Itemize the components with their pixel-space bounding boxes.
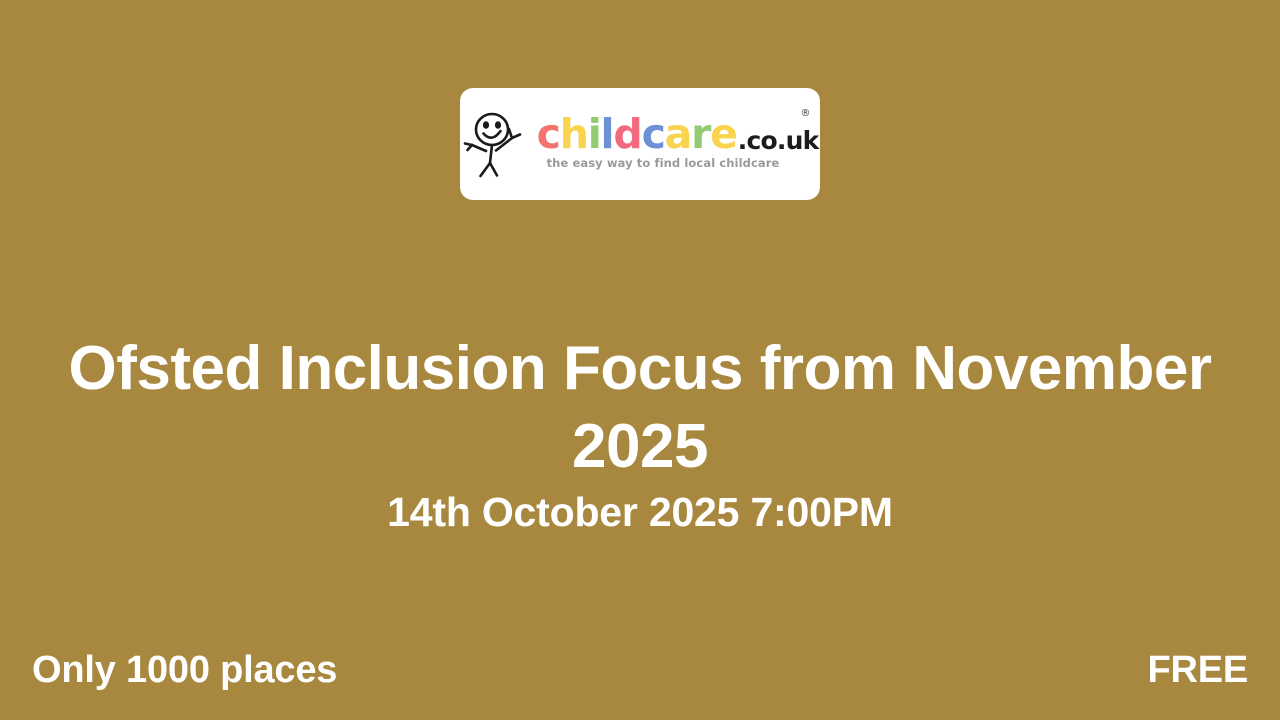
page-title: Ofsted Inclusion Focus from November 202… [40, 330, 1240, 486]
wordmark-letter-i: i [588, 116, 601, 154]
capacity-label: Only 1000 places [32, 647, 337, 693]
wordmark-letter-c2: c [642, 116, 665, 154]
brand-domain-suffix: .co.uk [738, 128, 819, 154]
wordmark-letter-h: h [560, 116, 588, 154]
brand-logo-card[interactable]: c h i l d c a r e .co.uk ® the easy way … [460, 88, 820, 200]
wordmark-letter-d: d [613, 116, 641, 154]
promo-slide: c h i l d c a r e .co.uk ® the easy way … [0, 0, 1280, 720]
wordmark-letter-c1: c [537, 116, 560, 154]
brand-wordmark-letters: c h i l d c a r e .co.uk ® [537, 116, 819, 154]
wordmark-letter-l: l [601, 116, 614, 154]
event-datetime: 14th October 2025 7:00PM [90, 486, 1190, 538]
brand-wordmark: c h i l d c a r e .co.uk ® the easy way … [537, 116, 819, 170]
price-label: FREE [1147, 647, 1248, 693]
brand-logo: c h i l d c a r e .co.uk ® the easy way … [462, 107, 819, 179]
wordmark-letter-e: e [710, 116, 737, 154]
smiling-stick-figure-icon [462, 107, 536, 179]
wordmark-letter-a: a [665, 116, 691, 154]
footer-bar: Only 1000 places FREE [0, 640, 1280, 700]
registered-trademark-icon: ® [800, 109, 810, 119]
wordmark-letter-r: r [691, 116, 710, 154]
